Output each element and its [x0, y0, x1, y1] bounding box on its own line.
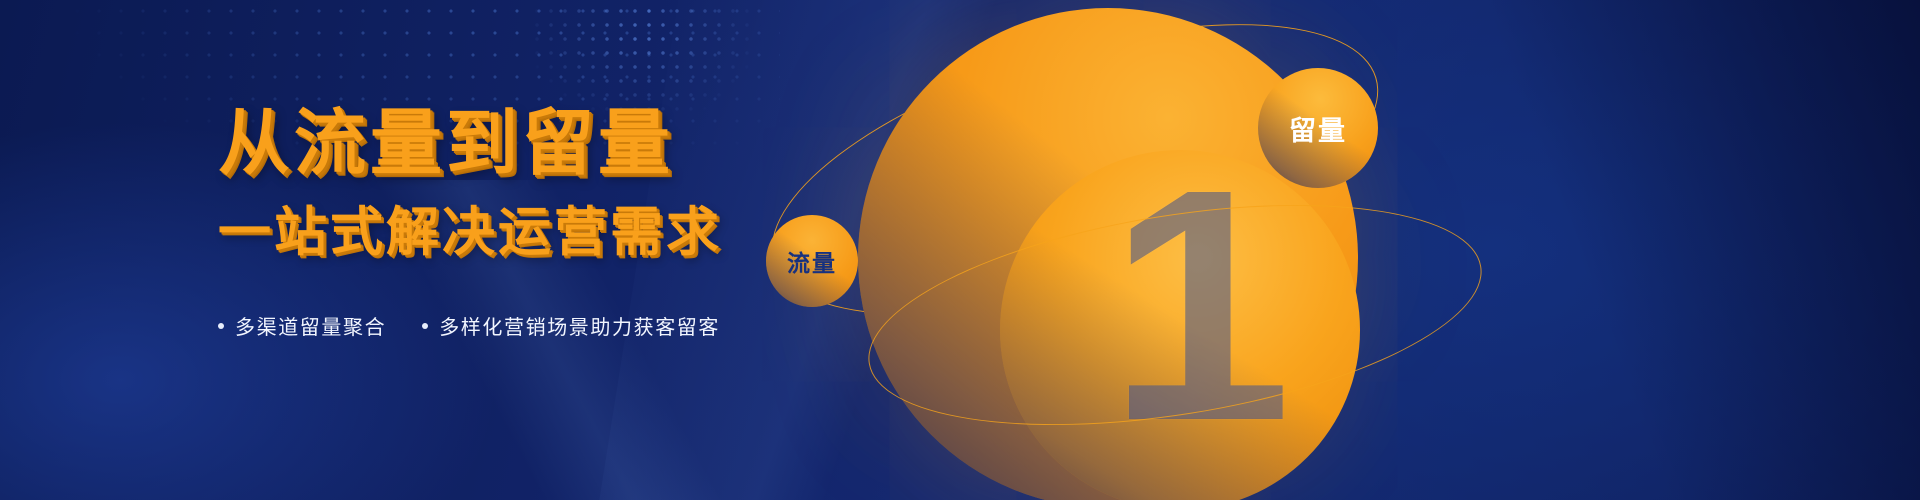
banner-headline: 从流量到留量: [218, 108, 738, 180]
promo-banner: 从流量到留量 一站式解决运营需求 多渠道留量聚合 多样化营销场景助力获客留客 留…: [0, 0, 1920, 500]
banner-feature-list: 多渠道留量聚合 多样化营销场景助力获客留客: [218, 311, 738, 340]
traffic-node-label: 流量: [787, 244, 837, 278]
bullet-dot-icon: [218, 323, 224, 329]
list-item: 多样化营销场景助力获客留客: [422, 311, 720, 340]
banner-subheadline: 一站式解决运营需求: [218, 206, 738, 259]
bullet-dot-icon: [422, 323, 428, 329]
banner-illustration: 留量 1 流量: [740, 0, 1920, 500]
traffic-node: 流量: [766, 215, 858, 307]
feature-label: 多渠道留量聚合: [235, 311, 386, 340]
retention-node-label: 留量: [1289, 109, 1347, 148]
banner-copy: 从流量到留量 一站式解决运营需求 多渠道留量聚合 多样化营销场景助力获客留客: [218, 108, 738, 340]
feature-label: 多样化营销场景助力获客留客: [439, 311, 720, 340]
list-item: 多渠道留量聚合: [218, 311, 386, 340]
